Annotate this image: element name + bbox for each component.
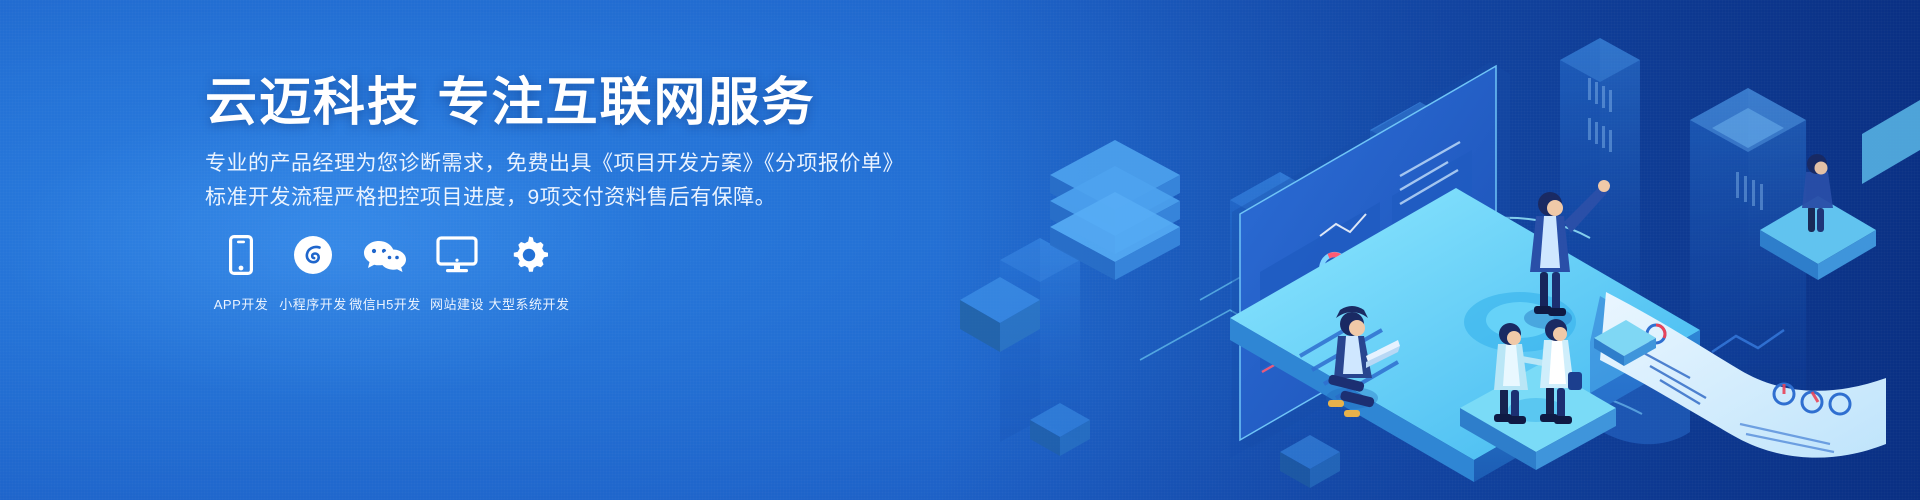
page-title: 云迈科技 专注互联网服务 (205, 72, 815, 134)
service-item-app[interactable]: APP开发 (205, 232, 277, 313)
isometric-data-platform-illustration (900, 0, 1920, 500)
mobile-phone-icon (229, 232, 253, 278)
service-item-website[interactable]: 网站建设 (421, 232, 493, 313)
hero-content: 云迈科技 专注互联网服务 专业的产品经理为您诊断需求，免费出具《项目开发方案》《… (205, 0, 945, 500)
wechat-icon (362, 232, 408, 278)
gear-icon (509, 232, 549, 278)
service-label: APP开发 (214, 294, 269, 313)
subtitle-line-1: 专业的产品经理为您诊断需求，免费出具《项目开发方案》《分项报价单》 (205, 148, 904, 180)
service-item-wechat-h5[interactable]: 微信H5开发 (349, 232, 421, 313)
mini-program-icon (293, 232, 333, 278)
hero-banner: 云迈科技 专注互联网服务 专业的产品经理为您诊断需求，免费出具《项目开发方案》《… (0, 0, 1920, 500)
service-label: 网站建设 (430, 294, 484, 313)
right-edge-plate (1862, 100, 1920, 184)
service-list: APP开发 小程序开发 (205, 232, 565, 313)
service-label: 大型系统开发 (489, 294, 570, 313)
service-item-mini-program[interactable]: 小程序开发 (277, 232, 349, 313)
subtitle-line-2: 标准开发流程严格把控项目进度，9项交付资料售后有保障。 (205, 182, 776, 214)
service-label: 微信H5开发 (349, 294, 421, 313)
service-label: 小程序开发 (279, 294, 347, 313)
monitor-icon (436, 232, 478, 278)
service-item-large-system[interactable]: 大型系统开发 (493, 232, 565, 313)
